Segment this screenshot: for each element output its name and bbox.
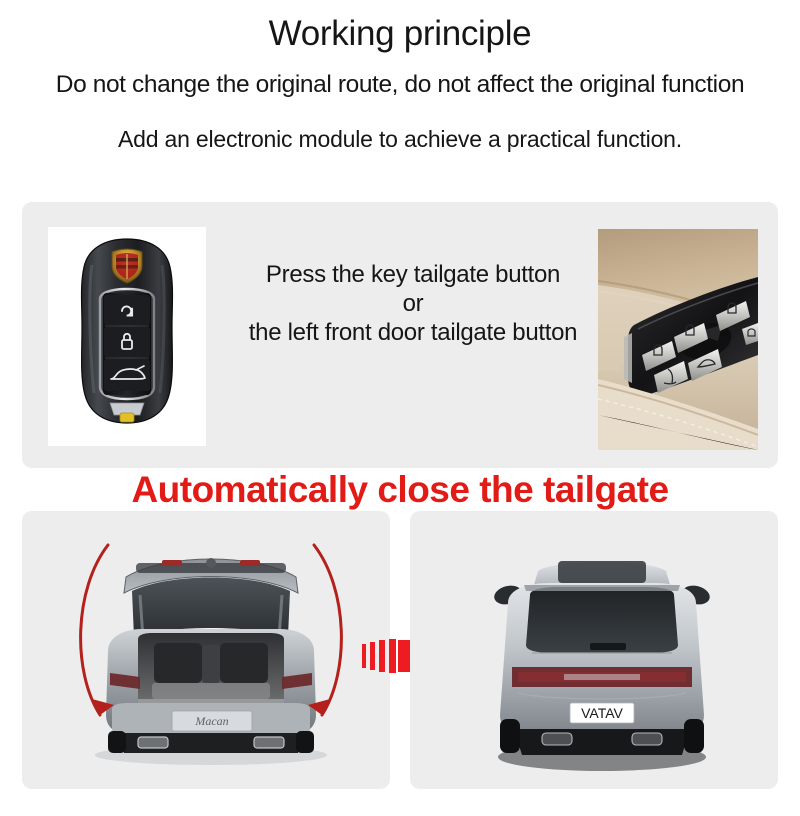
- tire-left: [500, 719, 520, 753]
- trigger-methods-panel: Press the key tailgate button or the lef…: [22, 202, 778, 468]
- key-fob-image: [48, 227, 206, 446]
- page-header: Working principle Do not change the orig…: [0, 16, 800, 151]
- rear-window-glass: [132, 578, 290, 638]
- tailgate-closed-panel: VATAV: [410, 511, 778, 789]
- car-rear-closed-image: VATAV: [472, 541, 732, 771]
- key-fob-card: [48, 227, 206, 446]
- rear-wiper: [590, 643, 626, 650]
- car-rear-open-image: Macan: [66, 533, 356, 769]
- roof-glass: [558, 561, 646, 583]
- instruction-text: Press the key tailgate button or the lef…: [218, 260, 608, 347]
- instruction-line-3: the left front door tailgate button: [218, 318, 608, 347]
- tailgate-icon[interactable]: [104, 359, 150, 391]
- exhaust-right: [632, 733, 662, 745]
- page-title: Working principle: [0, 16, 800, 51]
- rear-diffuser: [514, 729, 690, 755]
- macan-badge-text: Macan: [194, 714, 228, 728]
- instruction-line-1: Press the key tailgate button: [218, 260, 608, 289]
- page-subtitle-1: Do not change the original route, do not…: [0, 73, 800, 98]
- tailgate-open-panel: Macan: [22, 511, 390, 789]
- tire-right: [684, 719, 704, 753]
- exhaust-left: [542, 733, 572, 745]
- instruction-line-2: or: [218, 289, 608, 318]
- porsche-wordmark: [564, 674, 640, 680]
- exhaust-left: [138, 737, 168, 748]
- lock-icon[interactable]: [104, 327, 150, 357]
- unlock-icon[interactable]: [104, 295, 150, 325]
- door-switch-panel-image: [598, 229, 758, 450]
- page-subtitle-2: Add an electronic module to achieve a pr…: [0, 128, 800, 151]
- exhaust-right: [254, 737, 284, 748]
- key-blade-tip: [120, 413, 134, 422]
- license-plate-text: VATAV: [581, 705, 623, 721]
- result-banner: Automatically close the tailgate: [0, 471, 800, 508]
